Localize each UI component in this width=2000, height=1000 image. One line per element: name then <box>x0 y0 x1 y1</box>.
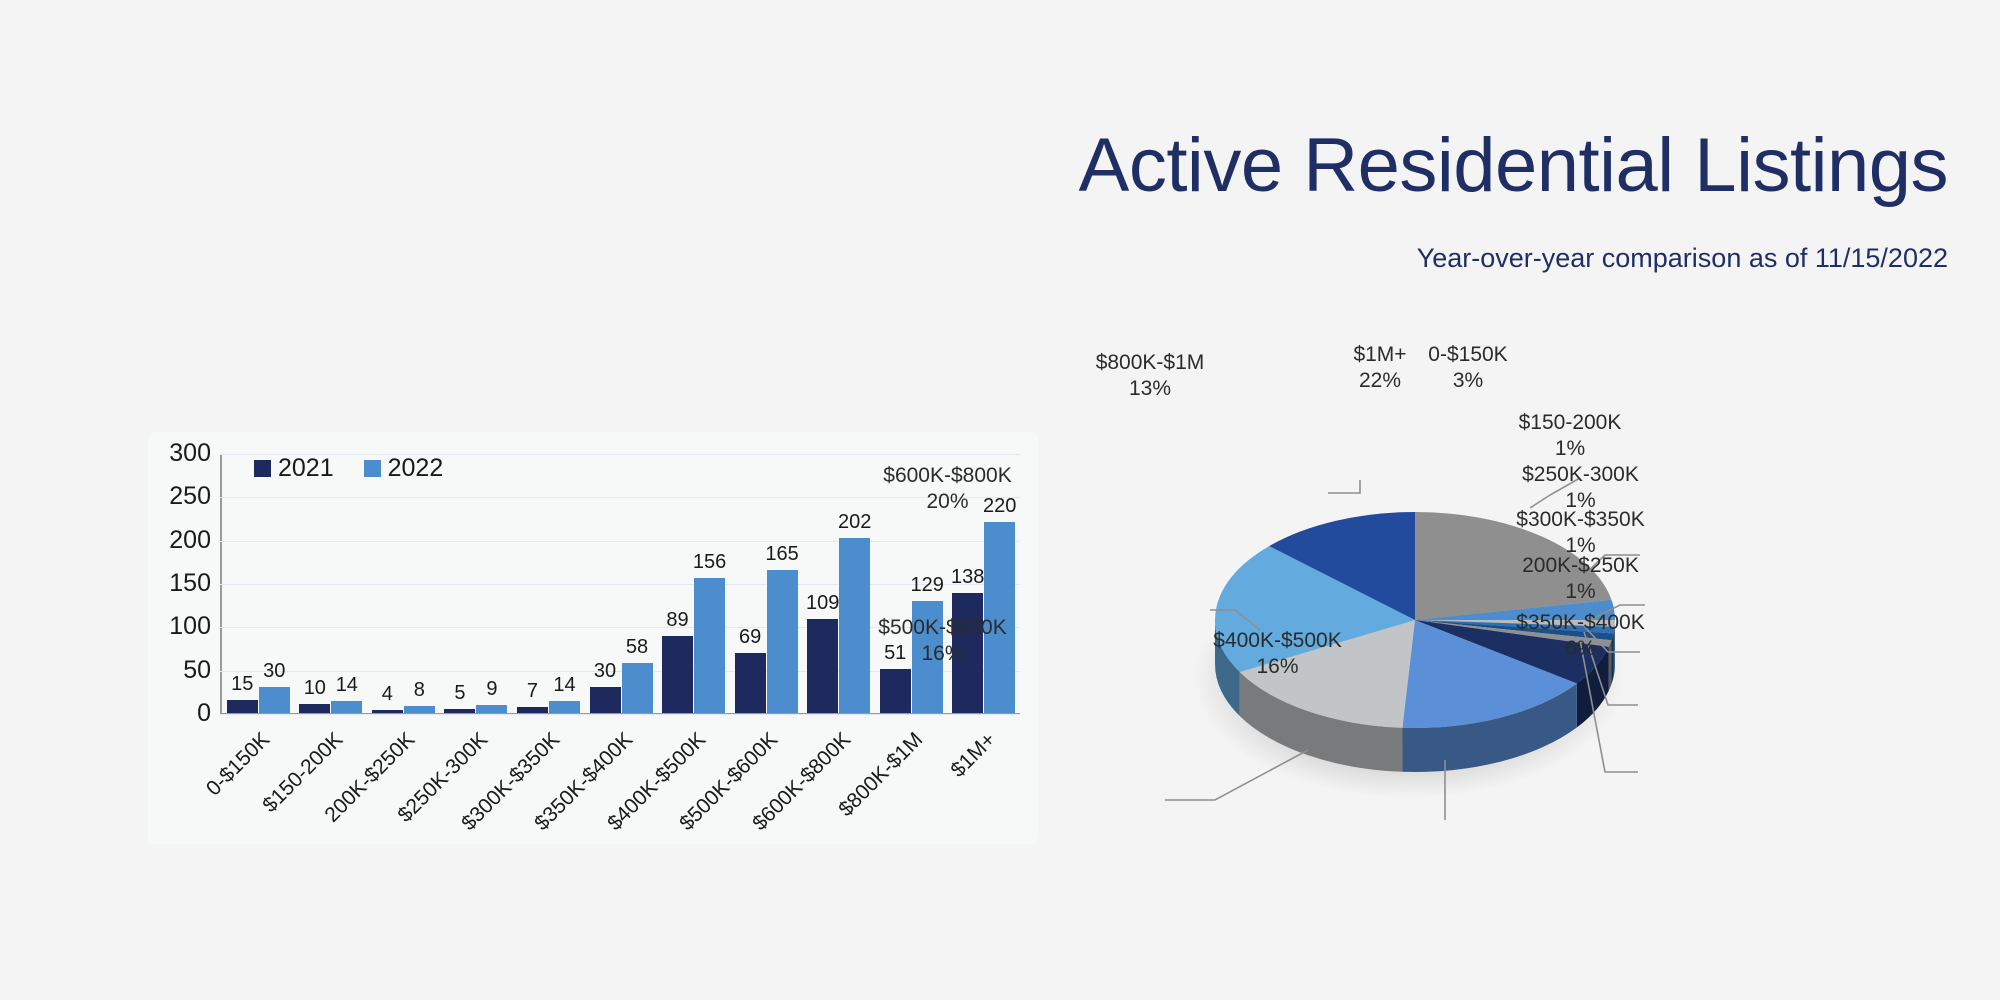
bar-value-label: 14 <box>553 674 575 697</box>
pie-callout-label: $300K-$350K <box>1516 508 1644 531</box>
bar-2022[interactable] <box>476 705 507 713</box>
pie-callout-label: $350K-$400K <box>1516 611 1644 634</box>
bar-wrapper: 165 <box>767 454 798 713</box>
pie-callout-label: 0-$150K <box>1428 343 1507 366</box>
pie-callout-label: 200K-$250K <box>1522 554 1639 577</box>
pie-callout-label: $150-200K <box>1519 411 1622 434</box>
bar-value-label: 138 <box>951 566 984 589</box>
pie-callout-200K-$250K: 200K-$250K1% <box>1488 553 1673 606</box>
header: Active Residential Listings Year-over-ye… <box>0 0 2000 300</box>
y-axis-tick-label: 50 <box>183 656 211 685</box>
gridline <box>220 714 1020 715</box>
bar-wrapper: 30 <box>259 454 290 713</box>
page-title: Active Residential Listings <box>1079 128 1948 204</box>
bar-2022[interactable] <box>549 701 580 713</box>
bar-wrapper: 89 <box>662 454 693 713</box>
pie-callout-$350K-$400K: $350K-$400K6% <box>1488 610 1673 663</box>
pie-callout-percent: 1% <box>1488 579 1673 605</box>
bar-value-label: 8 <box>414 679 425 702</box>
bar-wrapper: 14 <box>549 454 580 713</box>
bar-2021[interactable] <box>227 700 258 713</box>
bar-2021[interactable] <box>662 636 693 713</box>
pie-callout-percent: 6% <box>1488 636 1673 662</box>
pie-callout-$150-200K: $150-200K1% <box>1485 410 1655 463</box>
y-axis-tick-label: 150 <box>169 569 211 598</box>
bar-2022[interactable] <box>622 663 653 713</box>
bar-wrapper: 14 <box>331 454 362 713</box>
bar-group: 1530 <box>222 454 295 713</box>
x-label-cell: $800K-$1M <box>875 724 948 834</box>
pie-callout-percent: 16% <box>850 641 1035 667</box>
x-axis-labels: 0-$150K$150-200K200K-$250K$250K-300K$300… <box>222 724 1020 834</box>
pie-callout-$300K-$350K: $300K-$350K1% <box>1488 507 1673 560</box>
pie-callout-label: $250K-300K <box>1522 463 1639 486</box>
pie-callout-percent: 20% <box>855 489 1040 515</box>
bar-wrapper: 156 <box>694 454 725 713</box>
y-axis-tick-label: 300 <box>169 439 211 468</box>
bar-value-label: 89 <box>666 609 688 632</box>
bar-2021[interactable] <box>735 653 766 713</box>
bar-2021[interactable] <box>444 709 475 713</box>
bar-value-label: 69 <box>739 626 761 649</box>
bar-value-label: 9 <box>486 678 497 701</box>
bar-wrapper: 58 <box>622 454 653 713</box>
bar-value-label: 4 <box>382 683 393 706</box>
bar-2022[interactable] <box>404 706 435 713</box>
bar-value-label: 30 <box>594 660 616 683</box>
pie-callout-percent: 16% <box>1185 654 1370 680</box>
leader-line <box>1328 480 1360 493</box>
bar-2021[interactable] <box>807 619 838 713</box>
bar-value-label: 109 <box>806 592 839 615</box>
y-axis-tick-label: 100 <box>169 612 211 641</box>
bar-wrapper: 4 <box>372 454 403 713</box>
bar-2021[interactable] <box>880 669 911 713</box>
bar-2022[interactable] <box>331 701 362 713</box>
bar-group: 1014 <box>295 454 368 713</box>
bar-value-label: 129 <box>911 574 944 597</box>
y-axis-tick-label: 0 <box>197 699 211 728</box>
pie-callout-label: $800K-$1M <box>1096 351 1205 374</box>
pie-callout-percent: 3% <box>1408 368 1528 394</box>
bar-wrapper: 109 <box>807 454 838 713</box>
bar-2022[interactable] <box>694 578 725 713</box>
bar-value-label: 14 <box>336 674 358 697</box>
x-axis-tick-label: $1M+ <box>946 728 1001 783</box>
bar-2022[interactable] <box>259 687 290 713</box>
bar-value-label: 58 <box>626 636 648 659</box>
y-axis-tick-label: 200 <box>169 526 211 555</box>
bar-2021[interactable] <box>372 710 403 713</box>
pie-callout-0-$150K: 0-$150K3% <box>1408 342 1528 395</box>
bar-group: 69165 <box>730 454 803 713</box>
bar-group: 714 <box>512 454 585 713</box>
bar-wrapper: 8 <box>404 454 435 713</box>
bar-value-label: 15 <box>231 673 253 696</box>
bar-wrapper: 69 <box>735 454 766 713</box>
bar-wrapper: 9 <box>476 454 507 713</box>
bar-wrapper: 15 <box>227 454 258 713</box>
pie-callout-label: $500K-$600K <box>878 616 1006 639</box>
pie-callout-$600K-$800K: $600K-$800K20% <box>855 463 1040 516</box>
slide-root: Active Residential Listings Year-over-ye… <box>0 0 2000 1000</box>
pie-chart-panel: $800K-$1M13%$1M+22%0-$150K3%$150-200K1%$… <box>1060 420 1960 860</box>
bar-wrapper: 5 <box>444 454 475 713</box>
bar-group: 3058 <box>585 454 658 713</box>
bar-2021[interactable] <box>590 687 621 713</box>
bar-group: 59 <box>440 454 513 713</box>
y-axis-tick-label: 250 <box>169 482 211 511</box>
bar-value-label: 30 <box>263 660 285 683</box>
bar-2021[interactable] <box>517 707 548 713</box>
bar-2022[interactable] <box>767 570 798 713</box>
bar-value-label: 156 <box>693 551 726 574</box>
bar-wrapper: 10 <box>299 454 330 713</box>
pie-callout-$400K-$500K: $400K-$500K16% <box>1185 628 1370 681</box>
pie-callout-label: $1M+ <box>1353 343 1406 366</box>
pie-callout-$500K-$600K: $500K-$600K16% <box>850 615 1035 668</box>
bar-group: 48 <box>367 454 440 713</box>
bar-wrapper: 30 <box>590 454 621 713</box>
pie-callout-$800K-$1M: $800K-$1M13% <box>1050 350 1250 403</box>
pie-callout-label: $600K-$800K <box>883 464 1011 487</box>
bar-2021[interactable] <box>299 704 330 713</box>
pie-callout-percent: 13% <box>1050 376 1250 402</box>
bar-value-label: 165 <box>765 543 798 566</box>
bar-wrapper: 7 <box>517 454 548 713</box>
pie-callout-percent: 1% <box>1485 436 1655 462</box>
bar-group: 89156 <box>657 454 730 713</box>
page-subtitle: Year-over-year comparison as of 11/15/20… <box>1417 243 1948 274</box>
x-label-cell: $1M+ <box>947 724 1020 834</box>
bar-value-label: 5 <box>454 682 465 705</box>
bar-value-label: 7 <box>527 680 538 703</box>
bar-value-label: 10 <box>304 677 326 700</box>
pie-callout-label: $400K-$500K <box>1213 629 1341 652</box>
x-axis-tick-label: 0-$150K <box>202 728 275 801</box>
